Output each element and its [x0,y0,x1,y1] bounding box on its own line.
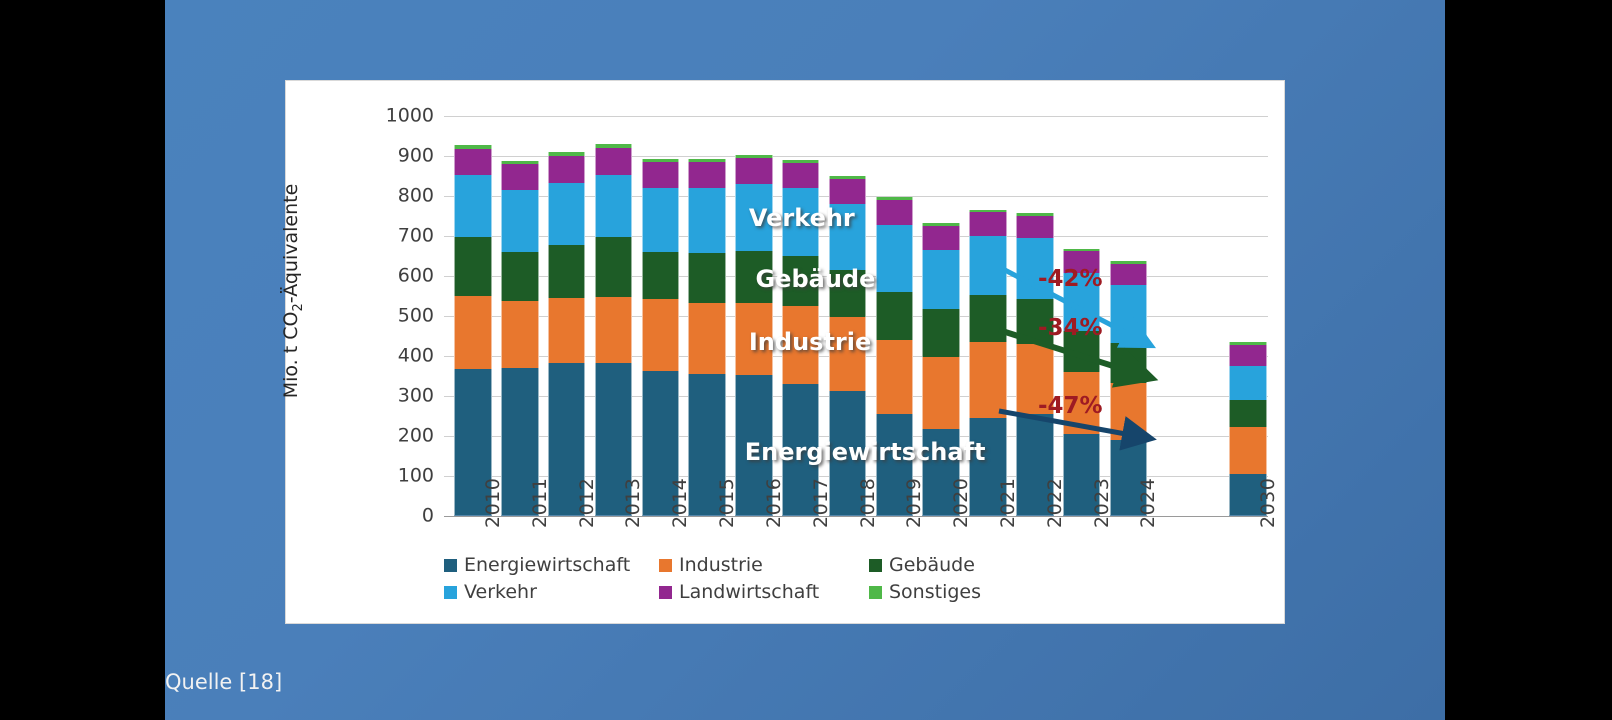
y-axis-tick-label: 400 [374,347,434,366]
bar-column-2010[interactable] [454,145,491,516]
y-axis-title-prefix: Mio. t CO [280,312,302,399]
bar-segment-landwirtschaft[interactable] [501,164,538,190]
bar-segment-landwirtschaft[interactable] [688,162,725,188]
bar-segment-verkehr[interactable] [642,188,679,252]
annotation-gebaeude-pct: -34% [1038,315,1103,341]
legend-label: Verkehr [464,581,537,603]
y-axis-title-suffix: -Äquivalente [280,184,302,304]
bar-column-2013[interactable] [595,144,632,516]
bar-segment-verkehr[interactable] [1229,366,1266,400]
legend-label: Industrie [679,554,763,576]
y-axis-tick-label: 600 [374,267,434,286]
annotation-energiewirtschaft-pct: -47% [1038,393,1103,419]
bar-column-2011[interactable] [501,161,538,516]
bar-segment-verkehr[interactable] [969,236,1006,295]
x-axis-tick-label-2024: 2024 [1137,478,1159,528]
bar-segment-landwirtschaft[interactable] [829,179,866,204]
y-axis-title-subscript: 2 [291,303,306,311]
y-axis-tick-label: 900 [374,147,434,166]
bar-segment-industrie[interactable] [876,340,913,413]
y-axis-tick-label: 300 [374,387,434,406]
bar-segment-gebude[interactable] [922,309,959,357]
bar-segment-gebude[interactable] [876,292,913,341]
bar-segment-industrie[interactable] [548,298,585,364]
legend-swatch [659,559,672,572]
legend-item-gebude[interactable]: Gebäude [869,554,1019,576]
bar-segment-landwirtschaft[interactable] [1016,216,1053,238]
inline-series-label-gebude: Gebäude [755,265,875,293]
bar-segment-industrie[interactable] [595,297,632,363]
bar-segment-landwirtschaft[interactable] [969,212,1006,235]
emissions-stacked-bar-chart: Mio. t CO2-Äquivalente 01002003004005006… [286,81,1284,623]
source-note: Quelle [18] [165,670,282,694]
bar-segment-landwirtschaft[interactable] [642,162,679,188]
bar-segment-landwirtschaft[interactable] [1110,264,1147,285]
bar-segment-industrie[interactable] [922,357,959,429]
bar-column-2020[interactable] [922,223,959,516]
annotation-verkehr-pct: -42% [1038,266,1103,292]
inline-series-label-energiewirtschaft: Energiewirtschaft [745,438,986,466]
bar-column-2022[interactable] [1016,213,1053,516]
legend-label: Sonstiges [889,581,981,603]
bar-segment-verkehr[interactable] [548,183,585,245]
y-axis-tick-label: 100 [374,467,434,486]
chart-legend: EnergiewirtschaftIndustrieGebäudeVerkehr… [444,554,1004,603]
bar-segment-verkehr[interactable] [876,225,913,291]
bar-segment-landwirtschaft[interactable] [595,148,632,175]
bar-segment-industrie[interactable] [688,303,725,374]
legend-swatch [869,559,882,572]
bar-segment-industrie[interactable] [501,301,538,368]
bar-segment-landwirtschaft[interactable] [876,200,913,225]
bar-segment-verkehr[interactable] [922,250,959,309]
bar-segment-gebude[interactable] [548,245,585,298]
y-axis-ticks: 01002003004005006007008009001000 [374,81,434,623]
legend-swatch [444,586,457,599]
bar-segment-gebude[interactable] [501,252,538,300]
bar-column-2012[interactable] [548,152,585,516]
bar-column-2021[interactable] [969,210,1006,516]
bar-segment-landwirtschaft[interactable] [548,156,585,183]
bar-segment-verkehr[interactable] [1110,285,1147,343]
y-axis-tick-label: 200 [374,427,434,446]
bar-segment-verkehr[interactable] [501,190,538,252]
legend-swatch [444,559,457,572]
legend-swatch [659,586,672,599]
y-axis-tick-label: 1000 [374,107,434,126]
bar-column-2015[interactable] [688,159,725,516]
bar-segment-gebude[interactable] [1229,400,1266,427]
bar-column-2014[interactable] [642,159,679,516]
legend-label: Landwirtschaft [679,581,819,603]
slide-stage: Mio. t CO2-Äquivalente 01002003004005006… [0,0,1612,720]
bar-segment-landwirtschaft[interactable] [454,149,491,175]
legend-item-verkehr[interactable]: Verkehr [444,581,659,603]
legend-label: Gebäude [889,554,975,576]
inline-series-label-industrie: Industrie [749,328,871,356]
bar-segment-verkehr[interactable] [595,175,632,237]
legend-item-sonstiges[interactable]: Sonstiges [869,581,1019,603]
bar-column-2019[interactable] [876,197,913,516]
legend-item-industrie[interactable]: Industrie [659,554,869,576]
x-axis-tick-label-2030: 2030 [1257,478,1279,528]
bar-segment-gebude[interactable] [688,253,725,303]
bar-segment-gebude[interactable] [969,295,1006,342]
bar-segment-landwirtschaft[interactable] [1229,345,1266,366]
presentation-slide: Mio. t CO2-Äquivalente 01002003004005006… [165,0,1445,720]
legend-item-energiewirtschaft[interactable]: Energiewirtschaft [444,554,659,576]
plot-area: 2010201120122013201420152016201720182019… [444,116,1268,516]
legend-item-landwirtschaft[interactable]: Landwirtschaft [659,581,869,603]
bar-segment-industrie[interactable] [1229,427,1266,474]
y-axis-title: Mio. t CO2-Äquivalente [280,141,304,441]
bar-segment-verkehr[interactable] [688,188,725,253]
bar-segment-landwirtschaft[interactable] [735,158,772,184]
inline-series-label-verkehr: Verkehr [749,204,855,232]
y-axis-tick-label: 500 [374,307,434,326]
legend-label: Energiewirtschaft [464,554,630,576]
y-axis-tick-label: 800 [374,187,434,206]
bar-segment-industrie[interactable] [642,299,679,371]
bar-segment-gebude[interactable] [642,252,679,299]
bar-segment-gebude[interactable] [595,237,632,297]
bar-segment-industrie[interactable] [454,296,491,368]
bar-segment-gebude[interactable] [1110,343,1147,383]
bar-segment-industrie[interactable] [1110,383,1147,440]
y-axis-tick-label: 700 [374,227,434,246]
chart-panel: Mio. t CO2-Äquivalente 01002003004005006… [286,81,1284,623]
legend-swatch [869,586,882,599]
bar-segment-verkehr[interactable] [454,175,491,237]
bar-segment-industrie[interactable] [969,342,1006,418]
bar-segment-landwirtschaft[interactable] [922,226,959,250]
bar-segment-landwirtschaft[interactable] [782,163,819,189]
bar-segment-gebude[interactable] [454,237,491,297]
y-axis-tick-label: 0 [374,507,434,526]
